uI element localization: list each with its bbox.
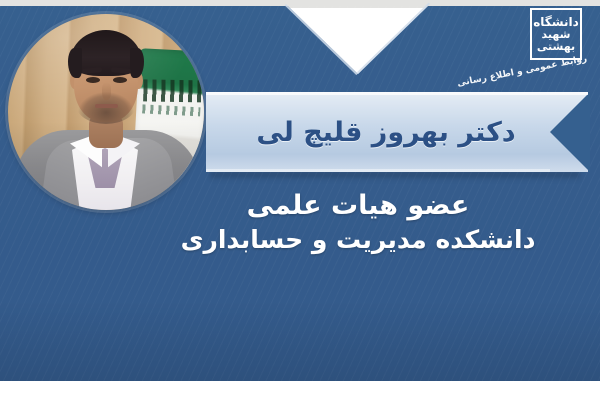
subtitle-line-1: عضو هیات علمی — [148, 190, 568, 222]
university-logo: دانشگاه شهید بهشتی روابط عمومی و اطلاع ر… — [496, 6, 588, 84]
eye-right — [113, 77, 127, 83]
person-name: دکتر بهروز قلیچ لی — [206, 92, 566, 172]
logo-mark-frame: دانشگاه شهید بهشتی — [530, 8, 582, 60]
logo-line-3: بهشتی — [537, 41, 575, 52]
eye-left — [86, 77, 100, 83]
subtitle-line-2: دانشکده مدیریت و حسابداری — [148, 224, 568, 255]
logo-line-2: شهید — [542, 29, 571, 40]
person-figure — [8, 14, 204, 210]
subtitle-block: عضو هیات علمی دانشکده مدیریت و حسابداری — [148, 190, 568, 255]
ribbon-drop-shadow — [210, 172, 580, 181]
portrait-avatar — [8, 14, 204, 210]
nose — [102, 82, 111, 100]
profile-card: دکتر بهروز قلیچ لی عضو هیات علمی دانشکده… — [0, 0, 600, 400]
hair-sideburn-right — [130, 48, 144, 78]
hair-sideburn-left — [68, 48, 82, 78]
portrait-photo — [8, 14, 204, 210]
logo-line-1: دانشگاه — [533, 16, 579, 28]
mouth — [95, 104, 118, 108]
